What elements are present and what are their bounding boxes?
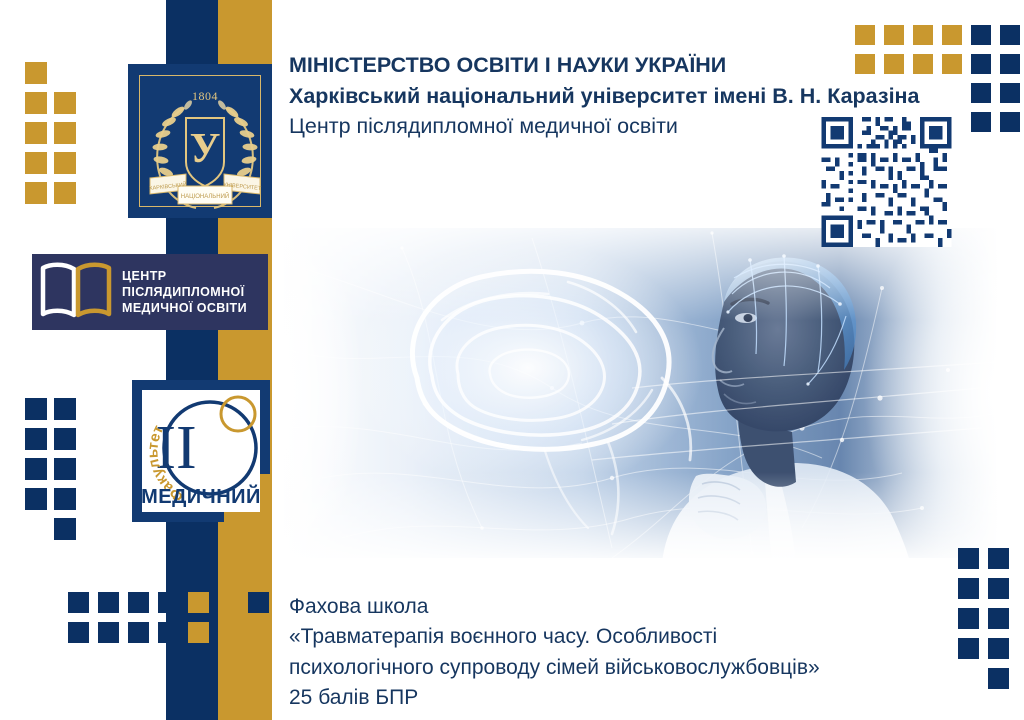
emblem-year: 1804: [192, 89, 218, 103]
dot-cell: [971, 54, 991, 74]
dot-cell: [25, 182, 47, 204]
dot-cell: [188, 622, 209, 643]
institution-header: МІНІСТЕРСТВО ОСВІТИ І НАУКИ УКРАЇНИ Харк…: [289, 50, 959, 142]
dot-cell-empty: [54, 62, 76, 84]
dot-cell-empty: [25, 518, 47, 540]
dot-column: [54, 398, 83, 548]
footer-kind-line: Фахова школа: [289, 592, 969, 622]
poster-canvas: 1804: [0, 0, 1024, 720]
faculty-emblem-artwork: ІІ Факультет МЕДИЧНИЙ: [130, 378, 272, 524]
dot-cell: [988, 668, 1009, 689]
dot-cell: [54, 92, 76, 114]
dot-cell: [958, 548, 979, 569]
dot-cell: [25, 428, 47, 450]
dot-cell: [25, 122, 47, 144]
dot-column: [218, 592, 248, 652]
dot-grid-mid-left: [25, 398, 83, 548]
dot-cell: [248, 592, 269, 613]
dot-cell: [218, 592, 239, 613]
dot-cell-empty: [248, 622, 269, 643]
dot-cell: [25, 152, 47, 174]
dot-cell: [128, 622, 149, 643]
dot-cell: [988, 548, 1009, 569]
cpmo-line-1: ЦЕНТР: [122, 268, 247, 284]
dot-cell: [188, 592, 209, 613]
dot-cell: [971, 112, 991, 132]
dot-cell: [25, 488, 47, 510]
header-ministry-line: МІНІСТЕРСТВО ОСВІТИ І НАУКИ УКРАЇНИ: [289, 50, 959, 81]
dot-cell: [855, 25, 875, 45]
emblem-shield-letter: У: [190, 126, 221, 172]
dot-cell: [884, 25, 904, 45]
footer-title-line-2: психологічного супроводу сімей військово…: [289, 653, 969, 683]
dot-column: [1000, 25, 1024, 141]
dot-column: [25, 62, 54, 212]
dot-grid-bottom-left: [68, 592, 278, 652]
dot-cell: [54, 458, 76, 480]
dot-cell: [98, 622, 119, 643]
header-center-line: Центр післядипломної медичної освіти: [289, 111, 959, 142]
dot-cell: [1000, 112, 1020, 132]
dot-cell: [54, 488, 76, 510]
dot-column: [158, 592, 188, 652]
dot-cell: [68, 592, 89, 613]
dot-cell: [988, 608, 1009, 629]
dot-column: [988, 548, 1018, 698]
dot-cell: [1000, 25, 1020, 45]
hero-image: [282, 228, 998, 558]
emblem-artwork: 1804: [138, 74, 272, 218]
dot-cell: [98, 592, 119, 613]
dot-column: [188, 592, 218, 652]
dot-cell: [54, 518, 76, 540]
dot-cell: [68, 622, 89, 643]
dot-cell: [1000, 83, 1020, 103]
dot-column: [128, 592, 158, 652]
dot-cell: [25, 92, 47, 114]
university-emblem: 1804: [128, 64, 272, 218]
dot-cell: [942, 25, 962, 45]
dot-cell: [128, 592, 149, 613]
dot-column: [248, 592, 278, 652]
hero-illustration: [282, 228, 998, 558]
faculty-bottom-label: МЕДИЧНИЙ: [141, 484, 261, 508]
footer-credits-line: 25 балів БПР: [289, 683, 969, 713]
dot-cell: [25, 62, 47, 84]
event-footer: Фахова школа «Травматерапія воєнного час…: [289, 592, 969, 714]
dot-cell: [1000, 54, 1020, 74]
dot-cell: [54, 152, 76, 174]
dot-cell: [54, 182, 76, 204]
dot-column: [54, 62, 83, 212]
dot-cell: [913, 25, 933, 45]
dot-cell: [971, 83, 991, 103]
cpmo-line-2: ПІСЛЯДИПЛОМНОЇ: [122, 284, 247, 300]
cpmo-line-3: МЕДИЧНОЇ ОСВІТИ: [122, 300, 247, 316]
dot-column: [25, 398, 54, 548]
dot-column: [68, 592, 98, 652]
dot-cell: [25, 398, 47, 420]
dot-cell: [988, 578, 1009, 599]
dot-cell: [25, 458, 47, 480]
open-book-icon: [38, 261, 116, 323]
dot-column: [971, 25, 1000, 141]
dot-cell: [218, 622, 239, 643]
dot-column: [98, 592, 128, 652]
dot-cell: [158, 622, 179, 643]
cpmo-logo-text: ЦЕНТР ПІСЛЯДИПЛОМНОЇ МЕДИЧНОЇ ОСВІТИ: [122, 268, 247, 316]
footer-title-line-1: «Травматерапія воєнного часу. Особливост…: [289, 622, 969, 652]
faculty-emblem: ІІ Факультет МЕДИЧНИЙ: [130, 378, 272, 524]
dot-cell: [54, 122, 76, 144]
dot-cell: [971, 25, 991, 45]
dot-cell: [54, 428, 76, 450]
dot-cell: [54, 398, 76, 420]
dot-grid-top-left: [25, 62, 83, 212]
cpmo-logo: ЦЕНТР ПІСЛЯДИПЛОМНОЇ МЕДИЧНОЇ ОСВІТИ: [32, 254, 268, 330]
header-university-line: Харківський національний університет іме…: [289, 81, 959, 112]
dot-cell: [988, 638, 1009, 659]
dot-cell: [158, 592, 179, 613]
emblem-ribbon-center: НАЦІОНАЛЬНИЙ: [181, 192, 229, 200]
